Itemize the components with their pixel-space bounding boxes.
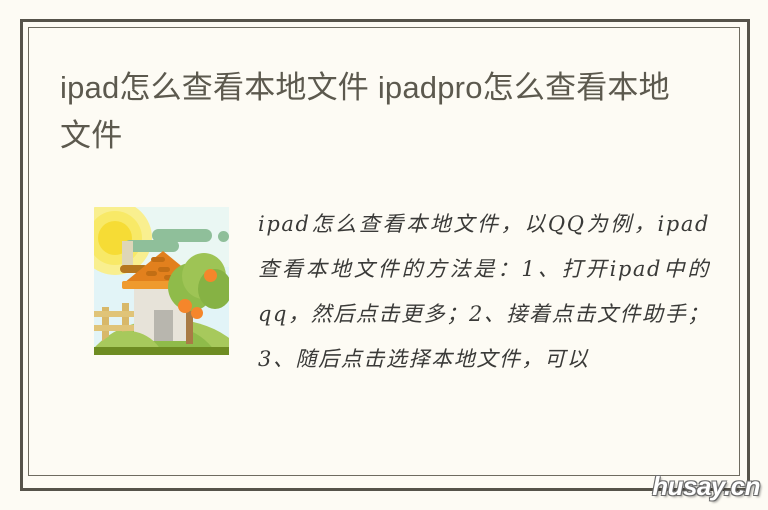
- cloud-dot-icon: [218, 231, 229, 242]
- article-card: ipad怎么查看本地文件 ipadpro怎么查看本地文件: [28, 27, 740, 476]
- fence-rail: [94, 311, 136, 317]
- roof-shingle: [158, 267, 170, 272]
- tree-fruit-shape: [191, 307, 203, 319]
- tree-fruit-shape: [178, 299, 192, 313]
- page-title: ipad怎么查看本地文件 ipadpro怎么查看本地文件: [60, 64, 680, 160]
- tree-fruit-shape: [204, 269, 217, 282]
- article-thumbnail-illustration: [94, 207, 229, 355]
- site-watermark: husay.cn: [652, 471, 760, 502]
- roof-shingle: [151, 257, 165, 262]
- article-body-text: ipad怎么查看本地文件，以QQ为例，ipad查看本地文件的方法是：1、打开ip…: [258, 202, 710, 382]
- ground-strip-shape: [94, 347, 229, 355]
- article-body-region: ipad怎么查看本地文件，以QQ为例，ipad查看本地文件的方法是：1、打开ip…: [60, 202, 710, 464]
- house-door-shape: [154, 310, 173, 341]
- roof-shingle: [146, 271, 157, 276]
